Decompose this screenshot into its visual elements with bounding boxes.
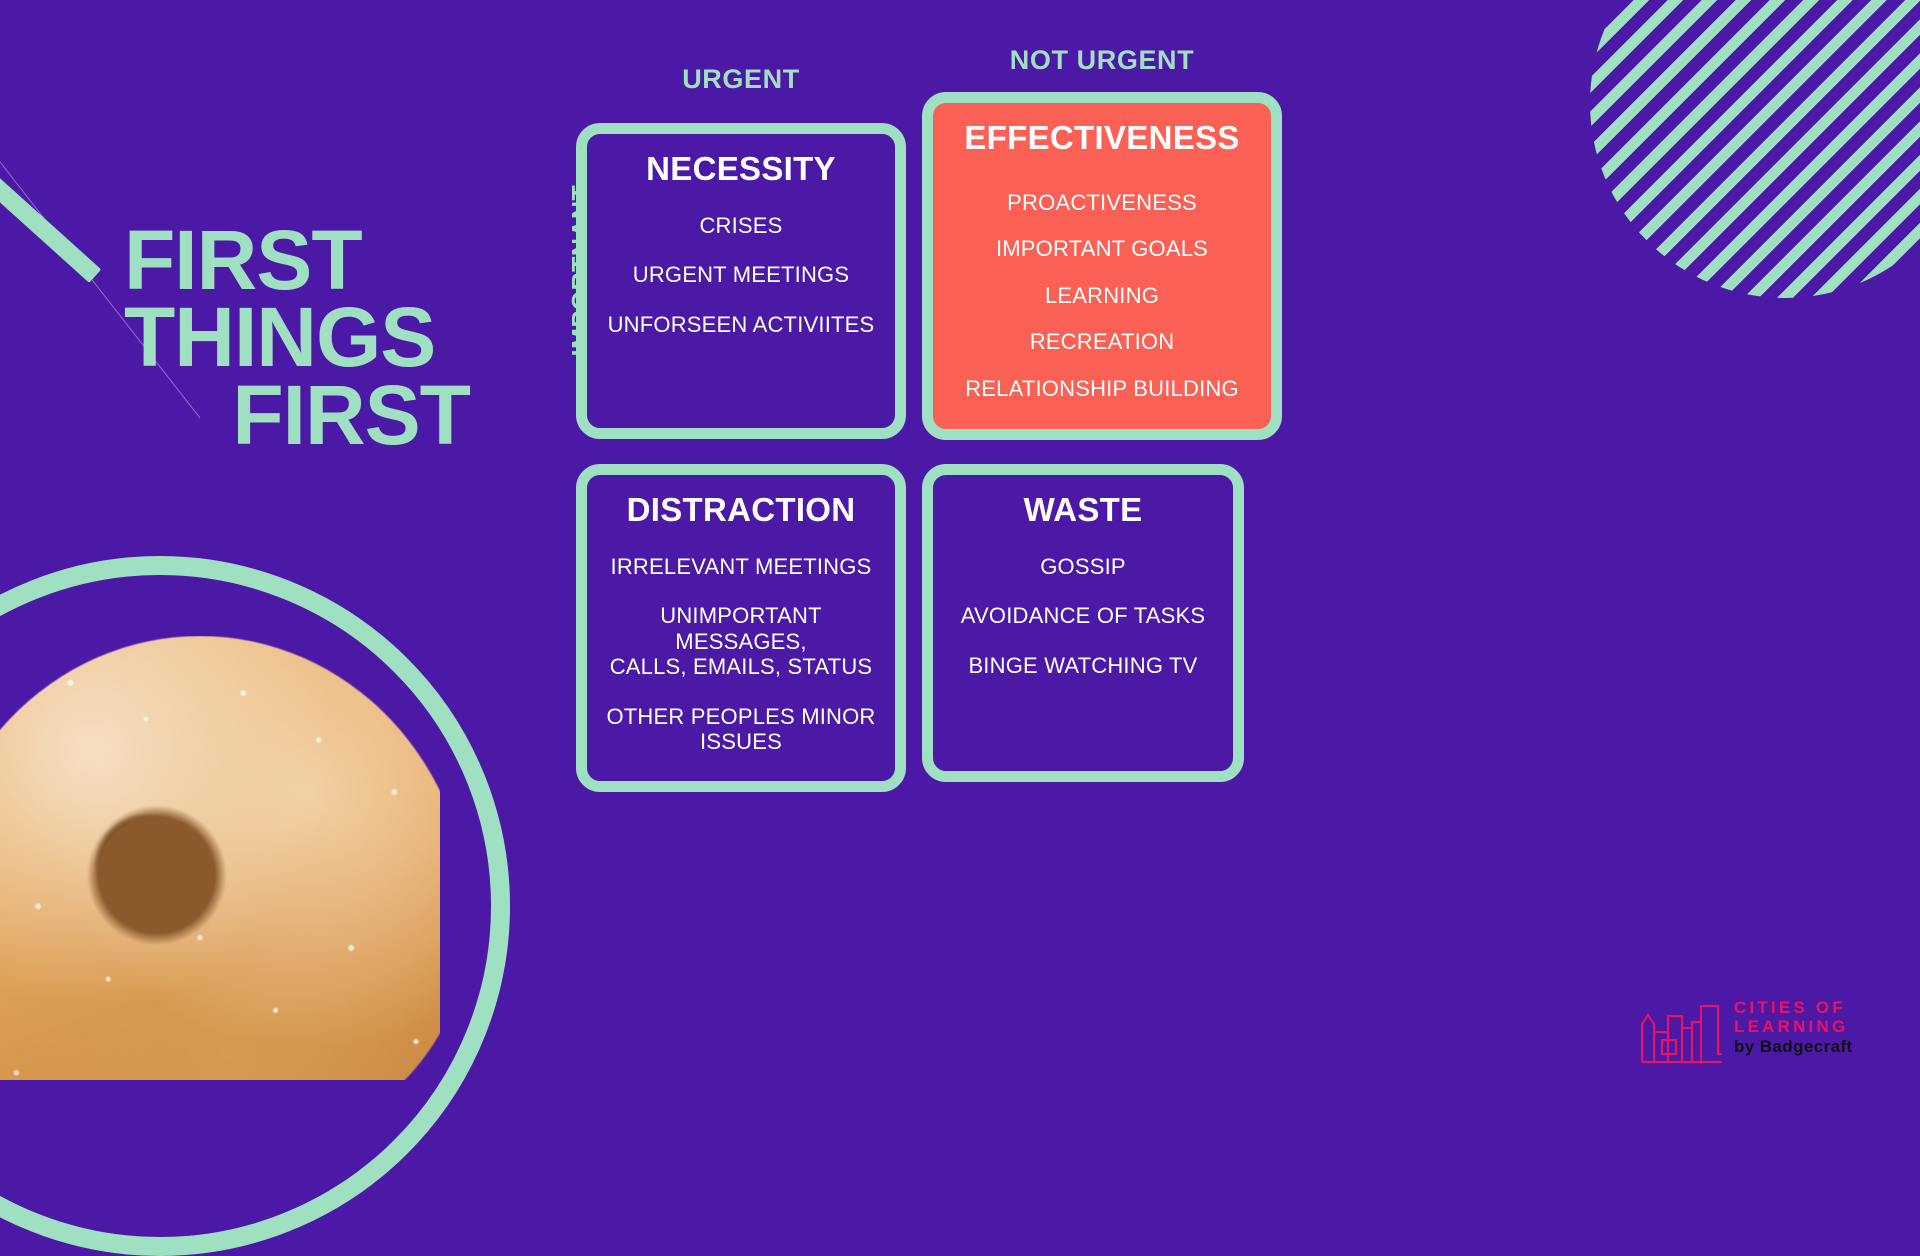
brand-logo-line-1: CITIES OF bbox=[1734, 998, 1910, 1017]
quadrant-effectiveness[interactable]: EFFECTIVENESS PROACTIVENESS IMPORTANT GO… bbox=[922, 92, 1282, 440]
quadrant-title: DISTRACTION bbox=[601, 493, 881, 528]
list-item: RELATIONSHIP BUILDING bbox=[947, 376, 1257, 402]
page-title-line-3: FIRST bbox=[124, 377, 484, 454]
quadrant-waste[interactable]: WASTE GOSSIP AVOIDANCE OF TASKS BINGE WA… bbox=[922, 464, 1244, 782]
list-item: UNFORSEEN ACTIVIITES bbox=[601, 312, 881, 338]
quadrant-title: NECESSITY bbox=[601, 152, 881, 187]
list-item: GOSSIP bbox=[947, 554, 1219, 580]
list-item: LEARNING bbox=[947, 283, 1257, 309]
column-header-not-urgent: NOT URGENT bbox=[922, 45, 1282, 76]
list-item-line: UNIMPORTANT MESSAGES, bbox=[601, 603, 881, 654]
quadrant-title: WASTE bbox=[947, 493, 1219, 528]
quadrant-distraction[interactable]: DISTRACTION IRRELEVANT MEETINGS UNIMPORT… bbox=[576, 464, 906, 792]
list-item: CRISES bbox=[601, 213, 881, 239]
mint-slash-decoration bbox=[0, 142, 101, 283]
list-item: AVOIDANCE OF TASKS bbox=[947, 603, 1219, 629]
list-item: RECREATION bbox=[947, 329, 1257, 355]
list-item: PROACTIVENESS bbox=[947, 190, 1257, 216]
list-item: OTHER PEOPLES MINOR ISSUES bbox=[601, 704, 881, 755]
quadrant-item-list: PROACTIVENESS IMPORTANT GOALS LEARNING R… bbox=[947, 190, 1257, 402]
page-title: FIRST THINGS FIRST bbox=[124, 222, 484, 454]
mint-ring-striped-segment bbox=[0, 556, 510, 1256]
brand-logo-text: CITIES OF LEARNING by Badgecraft bbox=[1734, 998, 1910, 1057]
mint-ring-decoration bbox=[0, 556, 510, 1256]
brand-logo-line-2: LEARNING bbox=[1734, 1017, 1910, 1036]
quadrant-item-list: IRRELEVANT MEETINGS UNIMPORTANT MESSAGES… bbox=[601, 554, 881, 755]
striped-circle-decoration bbox=[1590, 0, 1920, 298]
quadrant-necessity[interactable]: NECESSITY CRISES URGENT MEETINGS UNFORSE… bbox=[576, 123, 906, 439]
list-item: UNIMPORTANT MESSAGES, CALLS, EMAILS, STA… bbox=[601, 603, 881, 680]
city-skyline-icon bbox=[1640, 1002, 1724, 1064]
page-title-line-2: THINGS bbox=[124, 299, 484, 376]
list-item-line: CALLS, EMAILS, STATUS bbox=[601, 654, 881, 680]
eisenhower-matrix: URGENT NOT URGENT IMPORTNANT NOT IMPORTN… bbox=[576, 88, 1282, 792]
brand-logo-line-3: by Badgecraft bbox=[1734, 1037, 1910, 1057]
list-item: IMPORTANT GOALS bbox=[947, 236, 1257, 262]
quadrant-item-list: GOSSIP AVOIDANCE OF TASKS BINGE WATCHING… bbox=[947, 554, 1219, 679]
list-item: IRRELEVANT MEETINGS bbox=[601, 554, 881, 580]
donut-photo bbox=[0, 636, 440, 1080]
quadrant-title: EFFECTIVENESS bbox=[947, 121, 1257, 156]
list-item: URGENT MEETINGS bbox=[601, 262, 881, 288]
quadrant-item-list: CRISES URGENT MEETINGS UNFORSEEN ACTIVII… bbox=[601, 213, 881, 338]
page-title-line-1: FIRST bbox=[124, 222, 484, 299]
list-item: BINGE WATCHING TV bbox=[947, 653, 1219, 679]
brand-logo[interactable]: CITIES OF LEARNING by Badgecraft bbox=[1640, 998, 1908, 1070]
column-header-urgent: URGENT bbox=[576, 64, 906, 95]
